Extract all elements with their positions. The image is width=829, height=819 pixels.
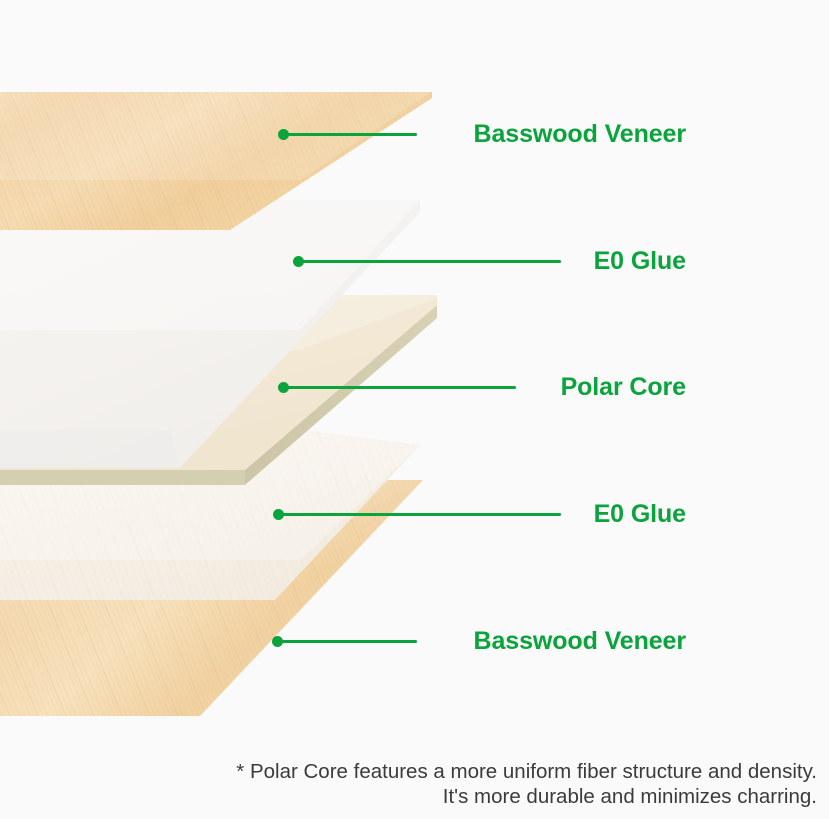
- layer-label-glue-bottom: E0 Glue: [437, 502, 686, 527]
- layer-label-polar-core: Polar Core: [437, 375, 686, 400]
- layer-label-glue-top: E0 Glue: [437, 249, 686, 274]
- footnote-line-2: It's more durable and minimizes charring…: [117, 784, 817, 809]
- layer-diagram: Basswood Veneer E0 Glue Polar Core E0 Gl…: [0, 0, 829, 819]
- leader-line-veneer-bottom: [280, 640, 417, 643]
- footnote: * Polar Core features a more uniform fib…: [117, 759, 817, 809]
- leader-line-veneer-top: [286, 133, 417, 136]
- layer-label-veneer-top: Basswood Veneer: [437, 122, 686, 147]
- layer-label-veneer-bottom: Basswood Veneer: [437, 629, 686, 654]
- diagram-artboard: [0, 0, 829, 819]
- footnote-line-1: * Polar Core features a more uniform fib…: [117, 759, 817, 784]
